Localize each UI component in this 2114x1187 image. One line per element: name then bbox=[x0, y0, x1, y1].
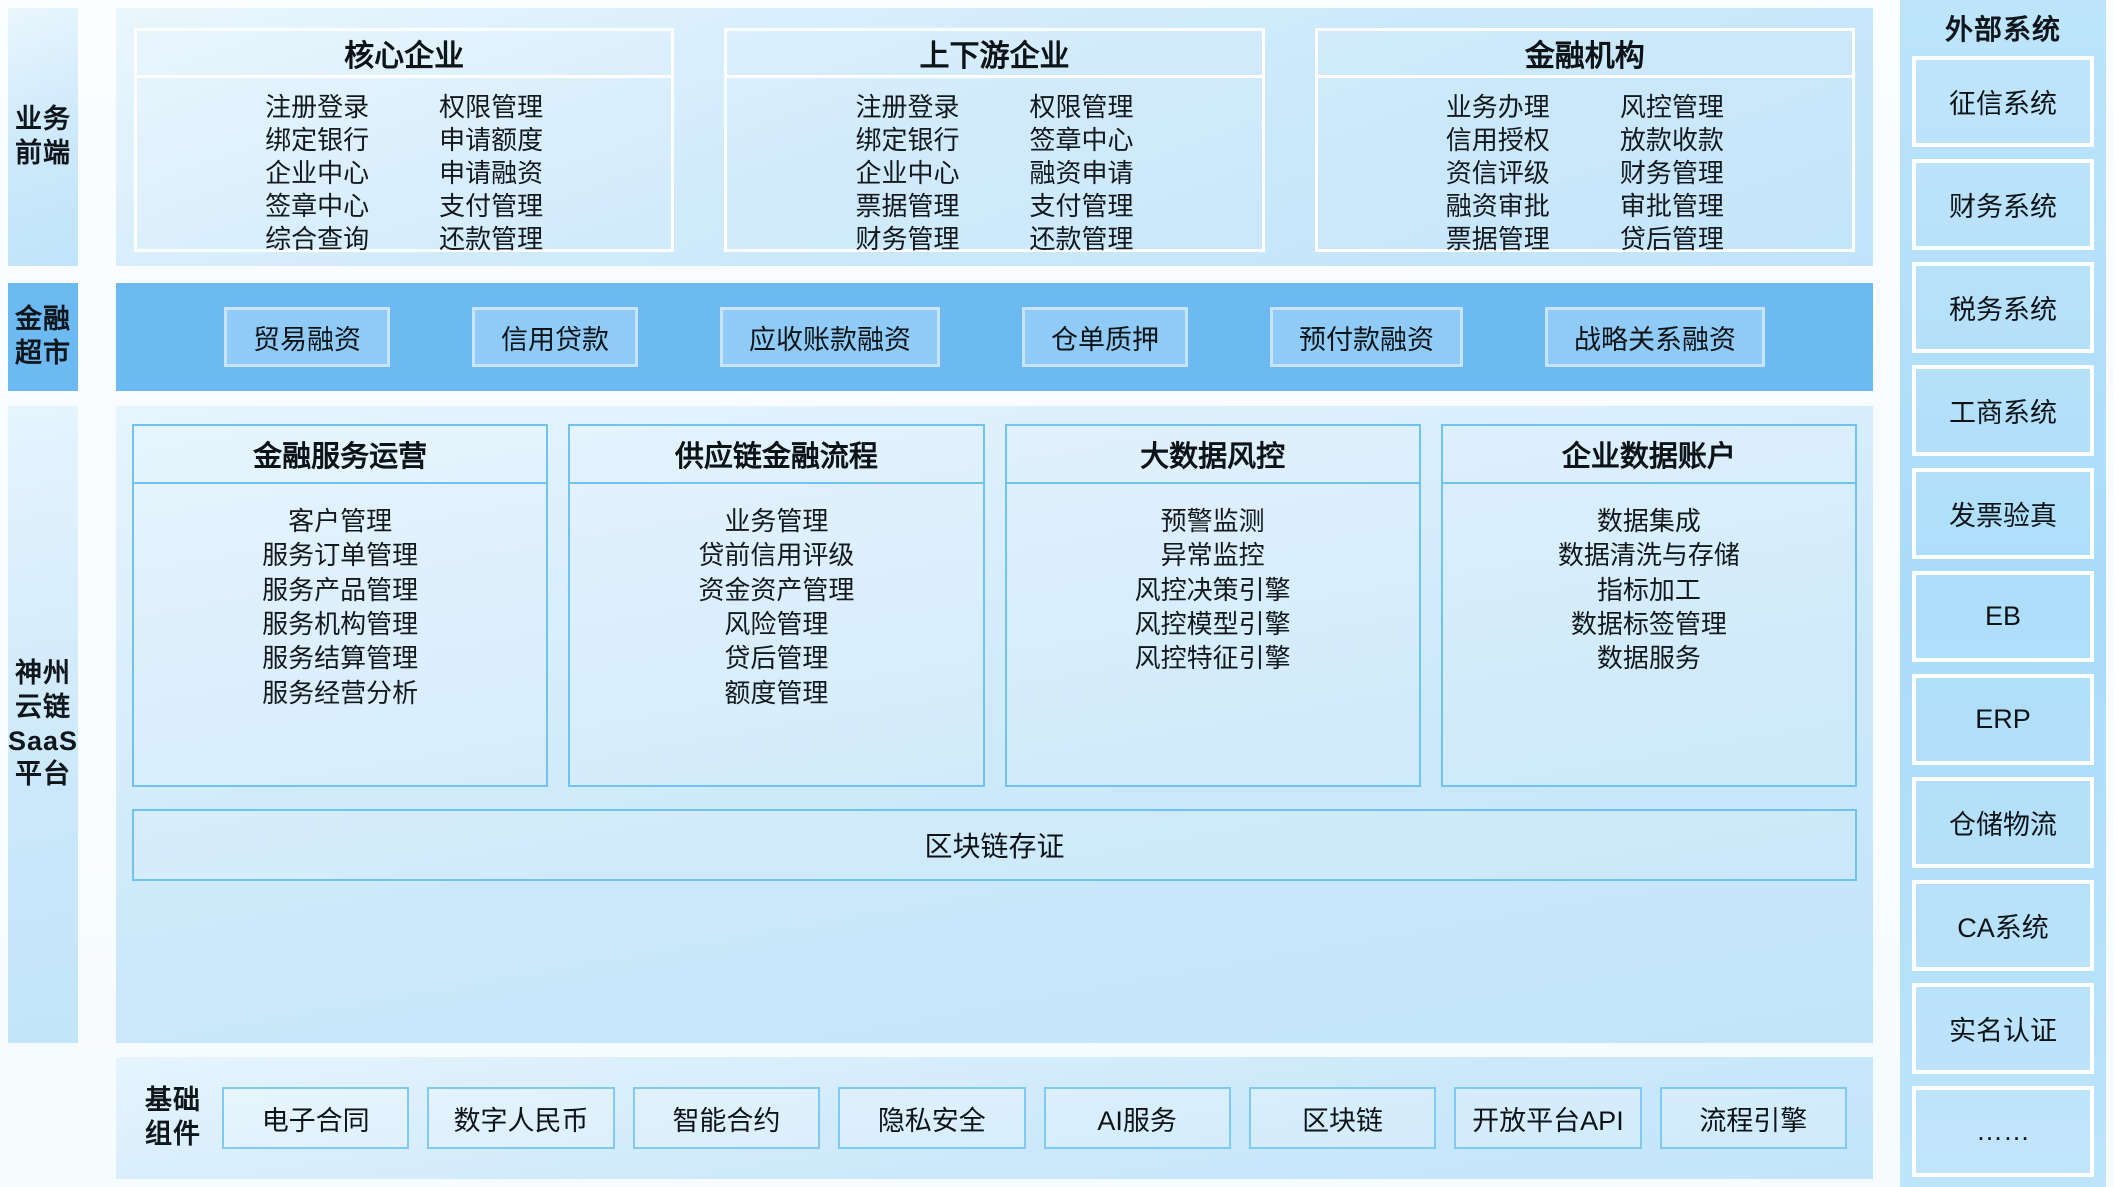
list-item[interactable]: 服务产品管理 bbox=[262, 573, 418, 607]
external-system-erp[interactable]: ERP bbox=[1912, 674, 2094, 765]
list-item[interactable]: 签章中心 bbox=[1029, 124, 1133, 157]
supermarket-item-credit-loan[interactable]: 信用贷款 bbox=[472, 307, 638, 367]
list-item[interactable]: 审批管理 bbox=[1620, 190, 1724, 223]
row-label-financial-supermarket: 金融 超市 bbox=[8, 283, 78, 391]
list-item[interactable]: 风控决策引擎 bbox=[1135, 573, 1291, 607]
list-item[interactable]: 数据清洗与存储 bbox=[1558, 538, 1740, 572]
list-item[interactable]: 财务管理 bbox=[855, 223, 959, 256]
external-system-real-name-auth[interactable]: 实名认证 bbox=[1912, 983, 2094, 1074]
supermarket-item-trade-finance[interactable]: 贸易融资 bbox=[224, 307, 390, 367]
list-item[interactable]: 资金资产管理 bbox=[698, 573, 854, 607]
list-item[interactable]: 贷后管理 bbox=[1620, 223, 1724, 256]
frontend-card-column-left: 注册登录 绑定银行 企业中心 票据管理 财务管理 bbox=[855, 91, 959, 256]
base-component-privacy-security[interactable]: 隐私安全 bbox=[838, 1087, 1025, 1149]
saas-card-list: 客户管理 服务订单管理 服务产品管理 服务机构管理 服务结算管理 服务经营分析 bbox=[134, 484, 546, 785]
list-item[interactable]: 信用授权 bbox=[1446, 124, 1550, 157]
external-systems-title: 外部系统 bbox=[1945, 8, 2061, 48]
base-component-ai-service[interactable]: AI服务 bbox=[1044, 1087, 1231, 1149]
external-system-credit-reporting[interactable]: 征信系统 bbox=[1912, 56, 2094, 147]
list-item[interactable]: 服务机构管理 bbox=[262, 607, 418, 641]
list-item[interactable]: 申请融资 bbox=[439, 157, 543, 190]
frontend-card-columns: 业务办理 信用授权 资信评级 融资审批 票据管理 风控管理 放款收款 财务管理 … bbox=[1318, 78, 1852, 256]
list-item[interactable]: 额度管理 bbox=[724, 676, 828, 710]
list-item[interactable]: 服务结算管理 bbox=[262, 641, 418, 675]
list-item[interactable]: 票据管理 bbox=[855, 190, 959, 223]
list-item[interactable]: 预警监测 bbox=[1161, 504, 1265, 538]
frontend-card-upstream-downstream-enterprise[interactable]: 上下游企业 注册登录 绑定银行 企业中心 票据管理 财务管理 权限管理 签章中心… bbox=[724, 28, 1264, 252]
row-label-saas-platform: 神州 云链 SaaS 平台 bbox=[8, 406, 78, 1043]
list-item[interactable]: 业务管理 bbox=[724, 504, 828, 538]
frontend-card-column-left: 业务办理 信用授权 资信评级 融资审批 票据管理 bbox=[1446, 91, 1550, 256]
external-system-eb[interactable]: EB bbox=[1912, 571, 2094, 662]
list-item[interactable]: 放款收款 bbox=[1620, 124, 1724, 157]
list-item[interactable]: 权限管理 bbox=[1029, 91, 1133, 124]
external-system-tax[interactable]: 税务系统 bbox=[1912, 262, 2094, 353]
frontend-card-column-left: 注册登录 绑定银行 企业中心 签章中心 综合查询 bbox=[265, 91, 369, 256]
list-item[interactable]: 业务办理 bbox=[1446, 91, 1550, 124]
list-item[interactable]: 支付管理 bbox=[1029, 190, 1133, 223]
frontend-card-columns: 注册登录 绑定银行 企业中心 票据管理 财务管理 权限管理 签章中心 融资申请 … bbox=[727, 78, 1261, 256]
supermarket-item-warehouse-receipt-pledge[interactable]: 仓单质押 bbox=[1022, 307, 1188, 367]
supermarket-item-prepayment-finance[interactable]: 预付款融资 bbox=[1270, 307, 1463, 367]
external-system-business-registry[interactable]: 工商系统 bbox=[1912, 365, 2094, 456]
row-label-business-frontend-text: 业务 前端 bbox=[15, 103, 71, 171]
saas-card-list: 业务管理 贷前信用评级 资金资产管理 风险管理 贷后管理 额度管理 bbox=[570, 484, 982, 785]
frontend-card-core-enterprise[interactable]: 核心企业 注册登录 绑定银行 企业中心 签章中心 综合查询 权限管理 申请额度 … bbox=[134, 28, 674, 252]
external-systems-sidebar: 外部系统 征信系统 财务系统 税务系统 工商系统 发票验真 EB ERP 仓储物… bbox=[1900, 0, 2106, 1187]
saas-card-big-data-risk-control[interactable]: 大数据风控 预警监测 异常监控 风控决策引擎 风控模型引擎 风控特征引擎 bbox=[1005, 424, 1421, 787]
saas-card-title: 金融服务运营 bbox=[134, 426, 546, 484]
list-item[interactable]: 贷前信用评级 bbox=[698, 538, 854, 572]
supermarket-item-strategic-relationship-finance[interactable]: 战略关系融资 bbox=[1545, 307, 1765, 367]
list-item[interactable]: 注册登录 bbox=[855, 91, 959, 124]
frontend-card-column-right: 权限管理 申请额度 申请融资 支付管理 还款管理 bbox=[439, 91, 543, 256]
saas-card-title: 大数据风控 bbox=[1007, 426, 1419, 484]
base-component-process-engine[interactable]: 流程引擎 bbox=[1660, 1087, 1847, 1149]
list-item[interactable]: 权限管理 bbox=[439, 91, 543, 124]
list-item[interactable]: 数据集成 bbox=[1597, 504, 1701, 538]
list-item[interactable]: 注册登录 bbox=[265, 91, 369, 124]
list-item[interactable]: 异常监控 bbox=[1161, 538, 1265, 572]
frontend-card-financial-institution[interactable]: 金融机构 业务办理 信用授权 资信评级 融资审批 票据管理 风控管理 放款收款 … bbox=[1315, 28, 1855, 252]
list-item[interactable]: 申请额度 bbox=[439, 124, 543, 157]
saas-card-financial-service-operation[interactable]: 金融服务运营 客户管理 服务订单管理 服务产品管理 服务机构管理 服务结算管理 … bbox=[132, 424, 548, 787]
list-item[interactable]: 风险管理 bbox=[724, 607, 828, 641]
saas-card-row: 金融服务运营 客户管理 服务订单管理 服务产品管理 服务机构管理 服务结算管理 … bbox=[132, 424, 1857, 787]
frontend-card-title: 上下游企业 bbox=[727, 31, 1261, 78]
frontend-card-column-right: 风控管理 放款收款 财务管理 审批管理 贷后管理 bbox=[1620, 91, 1724, 256]
list-item[interactable]: 企业中心 bbox=[265, 157, 369, 190]
frontend-card-column-right: 权限管理 签章中心 融资申请 支付管理 还款管理 bbox=[1029, 91, 1133, 256]
list-item[interactable]: 签章中心 bbox=[265, 190, 369, 223]
list-item[interactable]: 票据管理 bbox=[1446, 223, 1550, 256]
list-item[interactable]: 资信评级 bbox=[1446, 157, 1550, 190]
list-item[interactable]: 还款管理 bbox=[439, 223, 543, 256]
list-item[interactable]: 贷后管理 bbox=[724, 641, 828, 675]
list-item[interactable]: 还款管理 bbox=[1029, 223, 1133, 256]
external-system-invoice-verification[interactable]: 发票验真 bbox=[1912, 468, 2094, 559]
frontend-card-columns: 注册登录 绑定银行 企业中心 签章中心 综合查询 权限管理 申请额度 申请融资 … bbox=[137, 78, 671, 256]
list-item[interactable]: 指标加工 bbox=[1597, 573, 1701, 607]
list-item[interactable]: 融资审批 bbox=[1446, 190, 1550, 223]
list-item[interactable]: 服务经营分析 bbox=[262, 676, 418, 710]
base-component-blockchain[interactable]: 区块链 bbox=[1249, 1087, 1436, 1149]
list-item[interactable]: 数据标签管理 bbox=[1571, 607, 1727, 641]
list-item[interactable]: 融资申请 bbox=[1029, 157, 1133, 190]
list-item[interactable]: 风控管理 bbox=[1620, 91, 1724, 124]
list-item[interactable]: 企业中心 bbox=[855, 157, 959, 190]
business-frontend-panel: 核心企业 注册登录 绑定银行 企业中心 签章中心 综合查询 权限管理 申请额度 … bbox=[116, 8, 1873, 266]
supermarket-item-receivables-finance[interactable]: 应收账款融资 bbox=[720, 307, 940, 367]
list-item[interactable]: 综合查询 bbox=[265, 223, 369, 256]
base-components-panel: 基础 组件 电子合同 数字人民币 智能合约 隐私安全 AI服务 区块链 开放平台… bbox=[116, 1057, 1873, 1179]
base-component-smart-contract[interactable]: 智能合约 bbox=[633, 1087, 820, 1149]
list-item[interactable]: 风控特征引擎 bbox=[1135, 641, 1291, 675]
saas-card-list: 数据集成 数据清洗与存储 指标加工 数据标签管理 数据服务 bbox=[1443, 484, 1855, 785]
list-item[interactable]: 风控模型引擎 bbox=[1135, 607, 1291, 641]
frontend-card-title: 金融机构 bbox=[1318, 31, 1852, 78]
saas-card-list: 预警监测 异常监控 风控决策引擎 风控模型引擎 风控特征引擎 bbox=[1007, 484, 1419, 785]
blockchain-evidence-bar[interactable]: 区块链存证 bbox=[132, 809, 1857, 881]
external-system-ca[interactable]: CA系统 bbox=[1912, 880, 2094, 971]
saas-card-supply-chain-finance-process[interactable]: 供应链金融流程 业务管理 贷前信用评级 资金资产管理 风险管理 贷后管理 额度管… bbox=[568, 424, 984, 787]
row-label-business-frontend: 业务 前端 bbox=[8, 8, 78, 266]
saas-card-enterprise-data-account[interactable]: 企业数据账户 数据集成 数据清洗与存储 指标加工 数据标签管理 数据服务 bbox=[1441, 424, 1857, 787]
external-system-more[interactable]: …… bbox=[1912, 1086, 2094, 1177]
row-label-financial-supermarket-text: 金融 超市 bbox=[15, 303, 71, 371]
list-item[interactable]: 财务管理 bbox=[1620, 157, 1724, 190]
list-item[interactable]: 支付管理 bbox=[439, 190, 543, 223]
base-component-open-platform-api[interactable]: 开放平台API bbox=[1454, 1087, 1641, 1149]
frontend-card-title: 核心企业 bbox=[137, 31, 671, 78]
base-component-electronic-contract[interactable]: 电子合同 bbox=[222, 1087, 409, 1149]
list-item[interactable]: 数据服务 bbox=[1597, 641, 1701, 675]
external-system-finance[interactable]: 财务系统 bbox=[1912, 159, 2094, 250]
list-item[interactable]: 绑定银行 bbox=[265, 124, 369, 157]
list-item[interactable]: 绑定银行 bbox=[855, 124, 959, 157]
architecture-diagram: 业务 前端 核心企业 注册登录 绑定银行 企业中心 签章中心 综合查询 权限管理… bbox=[0, 0, 2114, 1187]
saas-platform-panel: 金融服务运营 客户管理 服务订单管理 服务产品管理 服务机构管理 服务结算管理 … bbox=[116, 406, 1873, 1043]
financial-supermarket-panel: 贸易融资 信用贷款 应收账款融资 仓单质押 预付款融资 战略关系融资 bbox=[116, 283, 1873, 391]
external-system-warehouse-logistics[interactable]: 仓储物流 bbox=[1912, 777, 2094, 868]
base-component-digital-rmb[interactable]: 数字人民币 bbox=[427, 1087, 614, 1149]
row-label-saas-platform-text: 神州 云链 SaaS 平台 bbox=[8, 657, 78, 792]
saas-card-title: 企业数据账户 bbox=[1443, 426, 1855, 484]
saas-card-title: 供应链金融流程 bbox=[570, 426, 982, 484]
list-item[interactable]: 服务订单管理 bbox=[262, 538, 418, 572]
list-item[interactable]: 客户管理 bbox=[288, 504, 392, 538]
row-label-base-components: 基础 组件 bbox=[142, 1084, 204, 1152]
